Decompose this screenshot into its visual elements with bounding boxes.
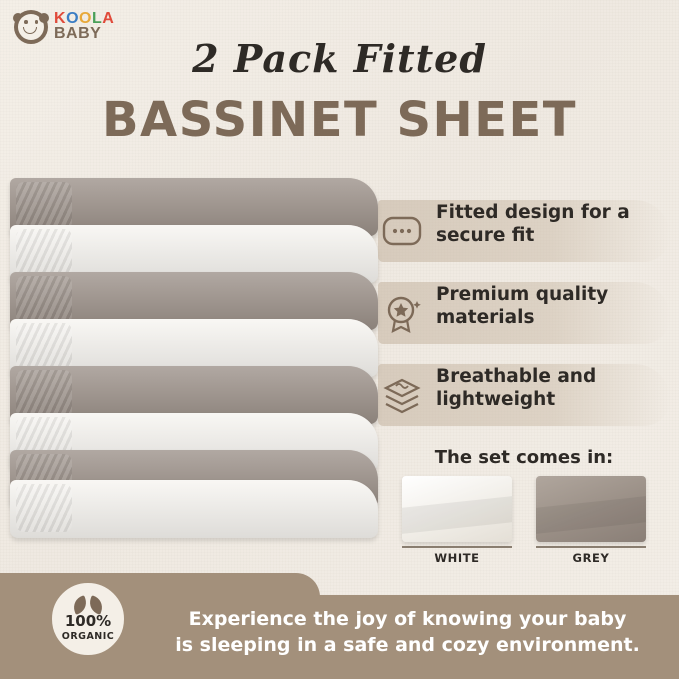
quality-badge-icon: [380, 292, 424, 334]
organic-badge: 100% ORGANIC: [50, 581, 126, 657]
organic-label: ORGANIC: [62, 631, 115, 642]
banner-message: Experience the joy of knowing your baby …: [150, 607, 665, 658]
feature-item-premium-quality: Premium quality materials: [378, 278, 670, 360]
banner-line-1: Experience the joy of knowing your baby: [150, 607, 665, 633]
feature-text: Premium quality materials: [436, 284, 666, 329]
sheet-item: [10, 480, 378, 538]
headline-script: 2 Pack Fitted: [0, 36, 679, 81]
feature-text: Breathable and lightweight: [436, 366, 666, 411]
fitted-sheet-icon: [380, 210, 424, 252]
feature-item-fitted-design: Fitted design for a secure fit: [378, 196, 670, 278]
swatch-white-image: [402, 476, 512, 542]
color-swatches: WHITE GREY: [378, 476, 670, 565]
leaf-icon: [71, 597, 105, 613]
swatch-grey-image: [536, 476, 646, 542]
banner-line-2: is sleeping in a safe and cozy environme…: [150, 633, 665, 659]
breathable-layers-icon: [380, 374, 424, 416]
folded-sheets-stack: [10, 178, 378, 538]
swatch-white-label: WHITE: [402, 546, 512, 565]
feature-text: Fitted design for a secure fit: [436, 202, 666, 247]
swatch-grey-label: GREY: [536, 546, 646, 565]
set-comes-in-title: The set comes in:: [378, 447, 670, 468]
swatch-white[interactable]: WHITE: [402, 476, 512, 565]
swatch-grey[interactable]: GREY: [536, 476, 646, 565]
feature-item-breathable: Breathable and lightweight: [378, 360, 670, 442]
page-title: BASSINET SHEET: [0, 92, 679, 148]
organic-percent: 100%: [65, 614, 111, 629]
feature-list: Fitted design for a secure fit Premium q…: [378, 196, 670, 442]
